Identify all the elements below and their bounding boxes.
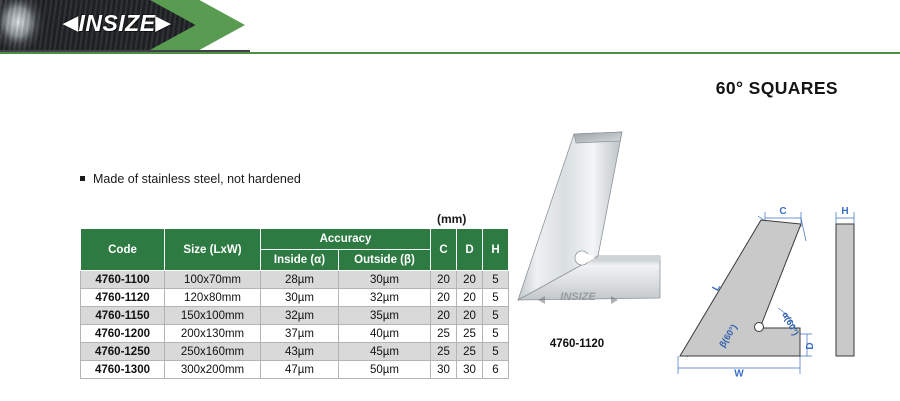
drawing-side-view-bar xyxy=(836,224,854,356)
cell-c: 20 xyxy=(431,307,457,325)
catalog-page: ◀INSIZE▶ 60° SQUARES Made of stainless s… xyxy=(0,0,900,401)
cell-d: 20 xyxy=(457,271,483,289)
cell-inside: 32µm xyxy=(261,307,339,325)
cell-size: 120x80mm xyxy=(165,289,261,307)
table-row: 4760-1250 250x160mm 43µm 45µm 25 25 5 xyxy=(81,343,509,361)
cell-d: 25 xyxy=(457,325,483,343)
cell-d: 25 xyxy=(457,343,483,361)
cell-code: 4760-1300 xyxy=(81,361,165,379)
dim-lead-c xyxy=(801,218,806,241)
logo-arrow-right-icon: ▶ xyxy=(156,12,171,35)
table-body: 4760-1100 100x70mm 28µm 30µm 20 20 5 476… xyxy=(81,271,509,379)
cell-code: 4760-1200 xyxy=(81,325,165,343)
cell-inside: 28µm xyxy=(261,271,339,289)
cell-inside: 47µm xyxy=(261,361,339,379)
specification-table: Code Size (LxW) Accuracy C D H Inside (α… xyxy=(80,228,509,379)
col-header-c: C xyxy=(431,229,457,271)
cell-outside: 50µm xyxy=(339,361,431,379)
col-header-code: Code xyxy=(81,229,165,271)
feature-list-item: Made of stainless steel, not hardened xyxy=(80,172,301,186)
cell-c: 25 xyxy=(431,343,457,361)
cell-outside: 40µm xyxy=(339,325,431,343)
col-header-accuracy: Accuracy xyxy=(261,229,431,250)
header-banner: ◀INSIZE▶ xyxy=(0,0,900,54)
table-row: 4760-1300 300x200mm 47µm 50µm 30 30 6 xyxy=(81,361,509,379)
cell-d: 20 xyxy=(457,289,483,307)
cell-inside: 30µm xyxy=(261,289,339,307)
technical-drawing-svg: C W H L D β(60°) α(60°) xyxy=(660,196,900,386)
cell-c: 25 xyxy=(431,325,457,343)
base-edge-highlight xyxy=(598,256,660,261)
cell-code: 4760-1100 xyxy=(81,271,165,289)
cell-code: 4760-1150 xyxy=(81,307,165,325)
cell-size: 200x130mm xyxy=(165,325,261,343)
cell-size: 250x160mm xyxy=(165,343,261,361)
cell-outside: 30µm xyxy=(339,271,431,289)
cell-size: 100x70mm xyxy=(165,271,261,289)
col-header-inside: Inside (α) xyxy=(261,250,339,271)
label-h: H xyxy=(841,206,848,217)
table-head: Code Size (LxW) Accuracy C D H Inside (α… xyxy=(81,229,509,271)
insize-logo: ◀INSIZE▶ xyxy=(52,8,182,38)
drawing-relief-notch xyxy=(755,323,764,332)
blade-top-bevel xyxy=(574,132,622,143)
drawing-square-body xyxy=(680,220,801,356)
cell-code: 4760-1120 xyxy=(81,289,165,307)
label-w: W xyxy=(734,368,744,379)
table-row: 4760-1100 100x70mm 28µm 30µm 20 20 5 xyxy=(81,271,509,289)
table-row: 4760-1150 150x100mm 32µm 35µm 20 20 5 xyxy=(81,307,509,325)
feature-text: Made of stainless steel, not hardened xyxy=(93,172,301,186)
cell-c: 20 xyxy=(431,271,457,289)
label-c: C xyxy=(779,206,786,217)
col-header-size: Size (LxW) xyxy=(165,229,261,271)
cell-c: 20 xyxy=(431,289,457,307)
table-header-row-1: Code Size (LxW) Accuracy C D H xyxy=(81,229,509,250)
engraved-logo-text: INSIZE xyxy=(560,291,596,303)
logo-wordmark: INSIZE xyxy=(78,10,155,37)
cell-size: 150x100mm xyxy=(165,307,261,325)
table-row: 4760-1200 200x130mm 37µm 40µm 25 25 5 xyxy=(81,325,509,343)
label-d: D xyxy=(805,342,816,349)
col-header-d: D xyxy=(457,229,483,271)
col-header-outside: Outside (β) xyxy=(339,250,431,271)
technical-drawing: C W H L D β(60°) α(60°) xyxy=(660,196,900,386)
product-photo-caption: 4760-1120 xyxy=(482,338,672,350)
cell-d: 30 xyxy=(457,361,483,379)
unit-label: (mm) xyxy=(437,212,466,226)
cell-c: 30 xyxy=(431,361,457,379)
cell-inside: 37µm xyxy=(261,325,339,343)
cell-size: 300x200mm xyxy=(165,361,261,379)
table-row: 4760-1120 120x80mm 30µm 32µm 20 20 5 xyxy=(81,289,509,307)
bullet-square-icon xyxy=(80,176,85,181)
cell-outside: 32µm xyxy=(339,289,431,307)
cell-outside: 45µm xyxy=(339,343,431,361)
banner-green-rule xyxy=(0,52,900,54)
cell-inside: 43µm xyxy=(261,343,339,361)
page-title: 60° SQUARES xyxy=(716,78,838,99)
logo-arrow-left-icon: ◀ xyxy=(63,12,78,35)
cell-outside: 35µm xyxy=(339,307,431,325)
cell-d: 20 xyxy=(457,307,483,325)
cell-code: 4760-1250 xyxy=(81,343,165,361)
